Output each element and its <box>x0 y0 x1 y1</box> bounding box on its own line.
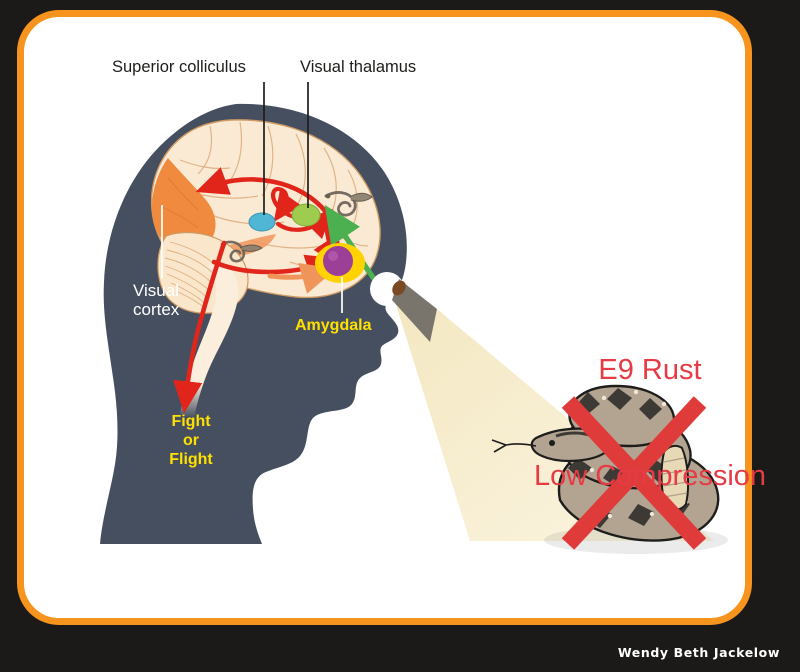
overlay-line-2: Low Compression <box>530 459 770 494</box>
screenshot-root: Superior colliculus Visual thalamus Visu… <box>0 0 800 672</box>
overlay-annotation-text: E9 Rust Low Compression <box>530 282 770 565</box>
amygdala-nucleus <box>315 243 365 283</box>
label-fight-or-flight: Fight or Flight <box>163 412 219 470</box>
superior-colliculus-nucleus <box>249 213 275 231</box>
label-visual-thalamus: Visual thalamus <box>300 58 416 76</box>
label-superior-colliculus: Superior colliculus <box>112 58 246 76</box>
overlay-line-1: E9 Rust <box>530 353 770 388</box>
artist-credit: Wendy Beth Jackelow <box>618 645 780 660</box>
visual-thalamus-nucleus <box>292 204 320 226</box>
label-visual-cortex: Visual cortex <box>133 281 179 319</box>
label-amygdala: Amygdala <box>295 317 371 335</box>
